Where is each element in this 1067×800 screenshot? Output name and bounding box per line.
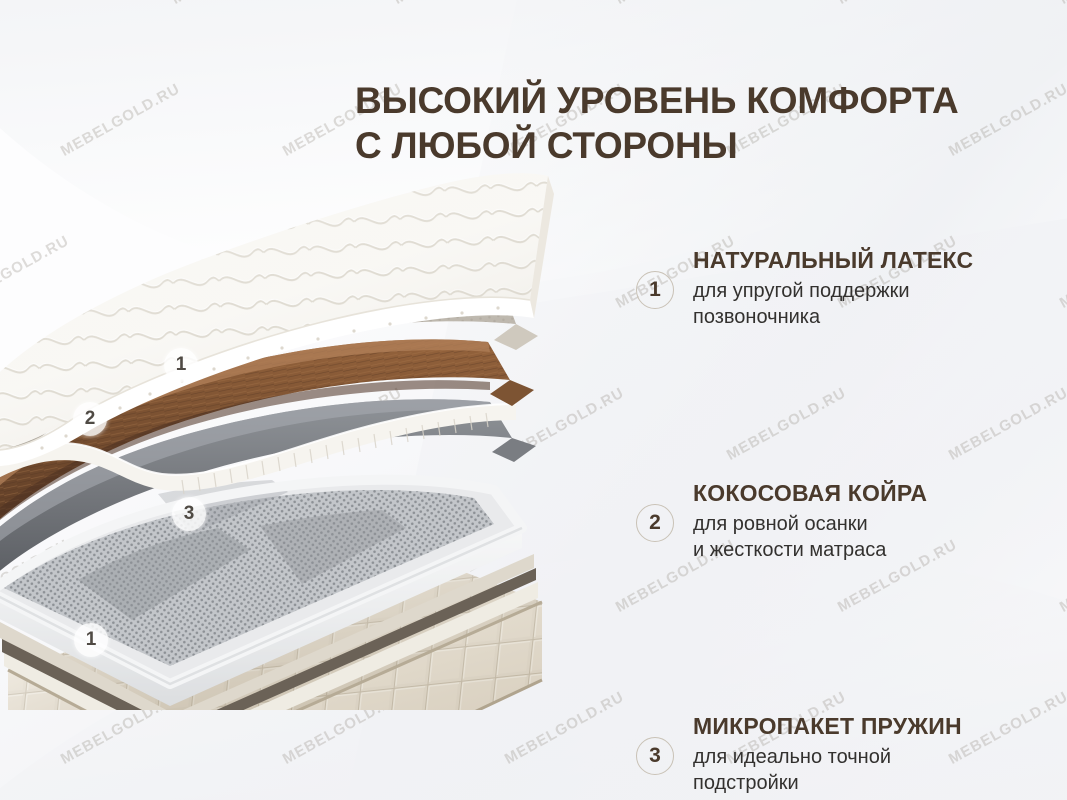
- feature-title-3: МИКРОПАКЕТ ПРУЖИН: [693, 713, 1056, 739]
- feature-item-coir: 2 КОКОСОВАЯ КОЙРА для ровной осанки и же…: [636, 480, 1056, 570]
- mattress-cutaway-illustration: 1 2 3 1: [0, 150, 582, 710]
- mattress-badge-springs: 3: [172, 497, 206, 531]
- feature-body-1: НАТУРАЛЬНЫЙ ЛАТЕКС для упругой поддержки…: [693, 247, 1056, 330]
- watermark-text: MEBELGOLD.RU: [1057, 536, 1067, 616]
- mattress-badge-latex: 1: [164, 348, 198, 382]
- feature-desc-3-line-2: подстройки: [693, 770, 1056, 796]
- page-title: ВЫСОКИЙ УРОВЕНЬ КОМФОРТА С ЛЮБОЙ СТОРОНЫ: [355, 78, 1045, 168]
- watermark-text: MEBELGOLD.RU: [169, 0, 294, 8]
- watermark-text: MEBELGOLD.RU: [0, 0, 72, 8]
- infographic-canvas: 1 2 3 1 ВЫСОКИЙ УРОВЕНЬ КОМФОРТА С ЛЮБОЙ…: [0, 0, 1067, 800]
- feature-desc-2-line-2: и жесткости матраса: [693, 537, 1056, 563]
- feature-desc-3-line-1: для идеально точной: [693, 744, 1056, 770]
- feature-item-springs: 3 МИКРОПАКЕТ ПРУЖИН для идеально точной …: [636, 713, 1056, 800]
- page-title-line-2: С ЛЮБОЙ СТОРОНЫ: [355, 123, 1045, 168]
- mattress-badge-coir: 2: [73, 402, 107, 436]
- feature-body-3: МИКРОПАКЕТ ПРУЖИН для идеально точной по…: [693, 713, 1056, 796]
- feature-item-latex: 1 НАТУРАЛЬНЫЙ ЛАТЕКС для упругой поддерж…: [636, 247, 1056, 337]
- watermark-text: MEBELGOLD.RU: [391, 0, 516, 8]
- page-title-line-1: ВЫСОКИЙ УРОВЕНЬ КОМФОРТА: [355, 78, 1045, 123]
- feature-number-2: 2: [636, 504, 674, 542]
- watermark-text: MEBELGOLD.RU: [58, 80, 183, 160]
- mattress-badge-bottom-cover: 1: [74, 623, 108, 657]
- feature-title-2: КОКОСОВАЯ КОЙРА: [693, 480, 1056, 506]
- feature-desc-1-line-2: позвоночника: [693, 304, 1056, 330]
- feature-desc-1-line-1: для упругой поддержки: [693, 278, 1056, 304]
- feature-title-1: НАТУРАЛЬНЫЙ ЛАТЕКС: [693, 247, 1056, 273]
- feature-number-1: 1: [636, 271, 674, 309]
- watermark-text: MEBELGOLD.RU: [1057, 0, 1067, 8]
- feature-number-3: 3: [636, 737, 674, 775]
- feature-body-2: КОКОСОВАЯ КОЙРА для ровной осанки и жест…: [693, 480, 1056, 563]
- watermark-text: MEBELGOLD.RU: [835, 0, 960, 8]
- feature-list: 1 НАТУРАЛЬНЫЙ ЛАТЕКС для упругой поддерж…: [636, 247, 1056, 800]
- watermark-text: MEBELGOLD.RU: [613, 0, 738, 8]
- watermark-text: MEBELGOLD.RU: [1057, 232, 1067, 312]
- feature-desc-2-line-1: для ровной осанки: [693, 511, 1056, 537]
